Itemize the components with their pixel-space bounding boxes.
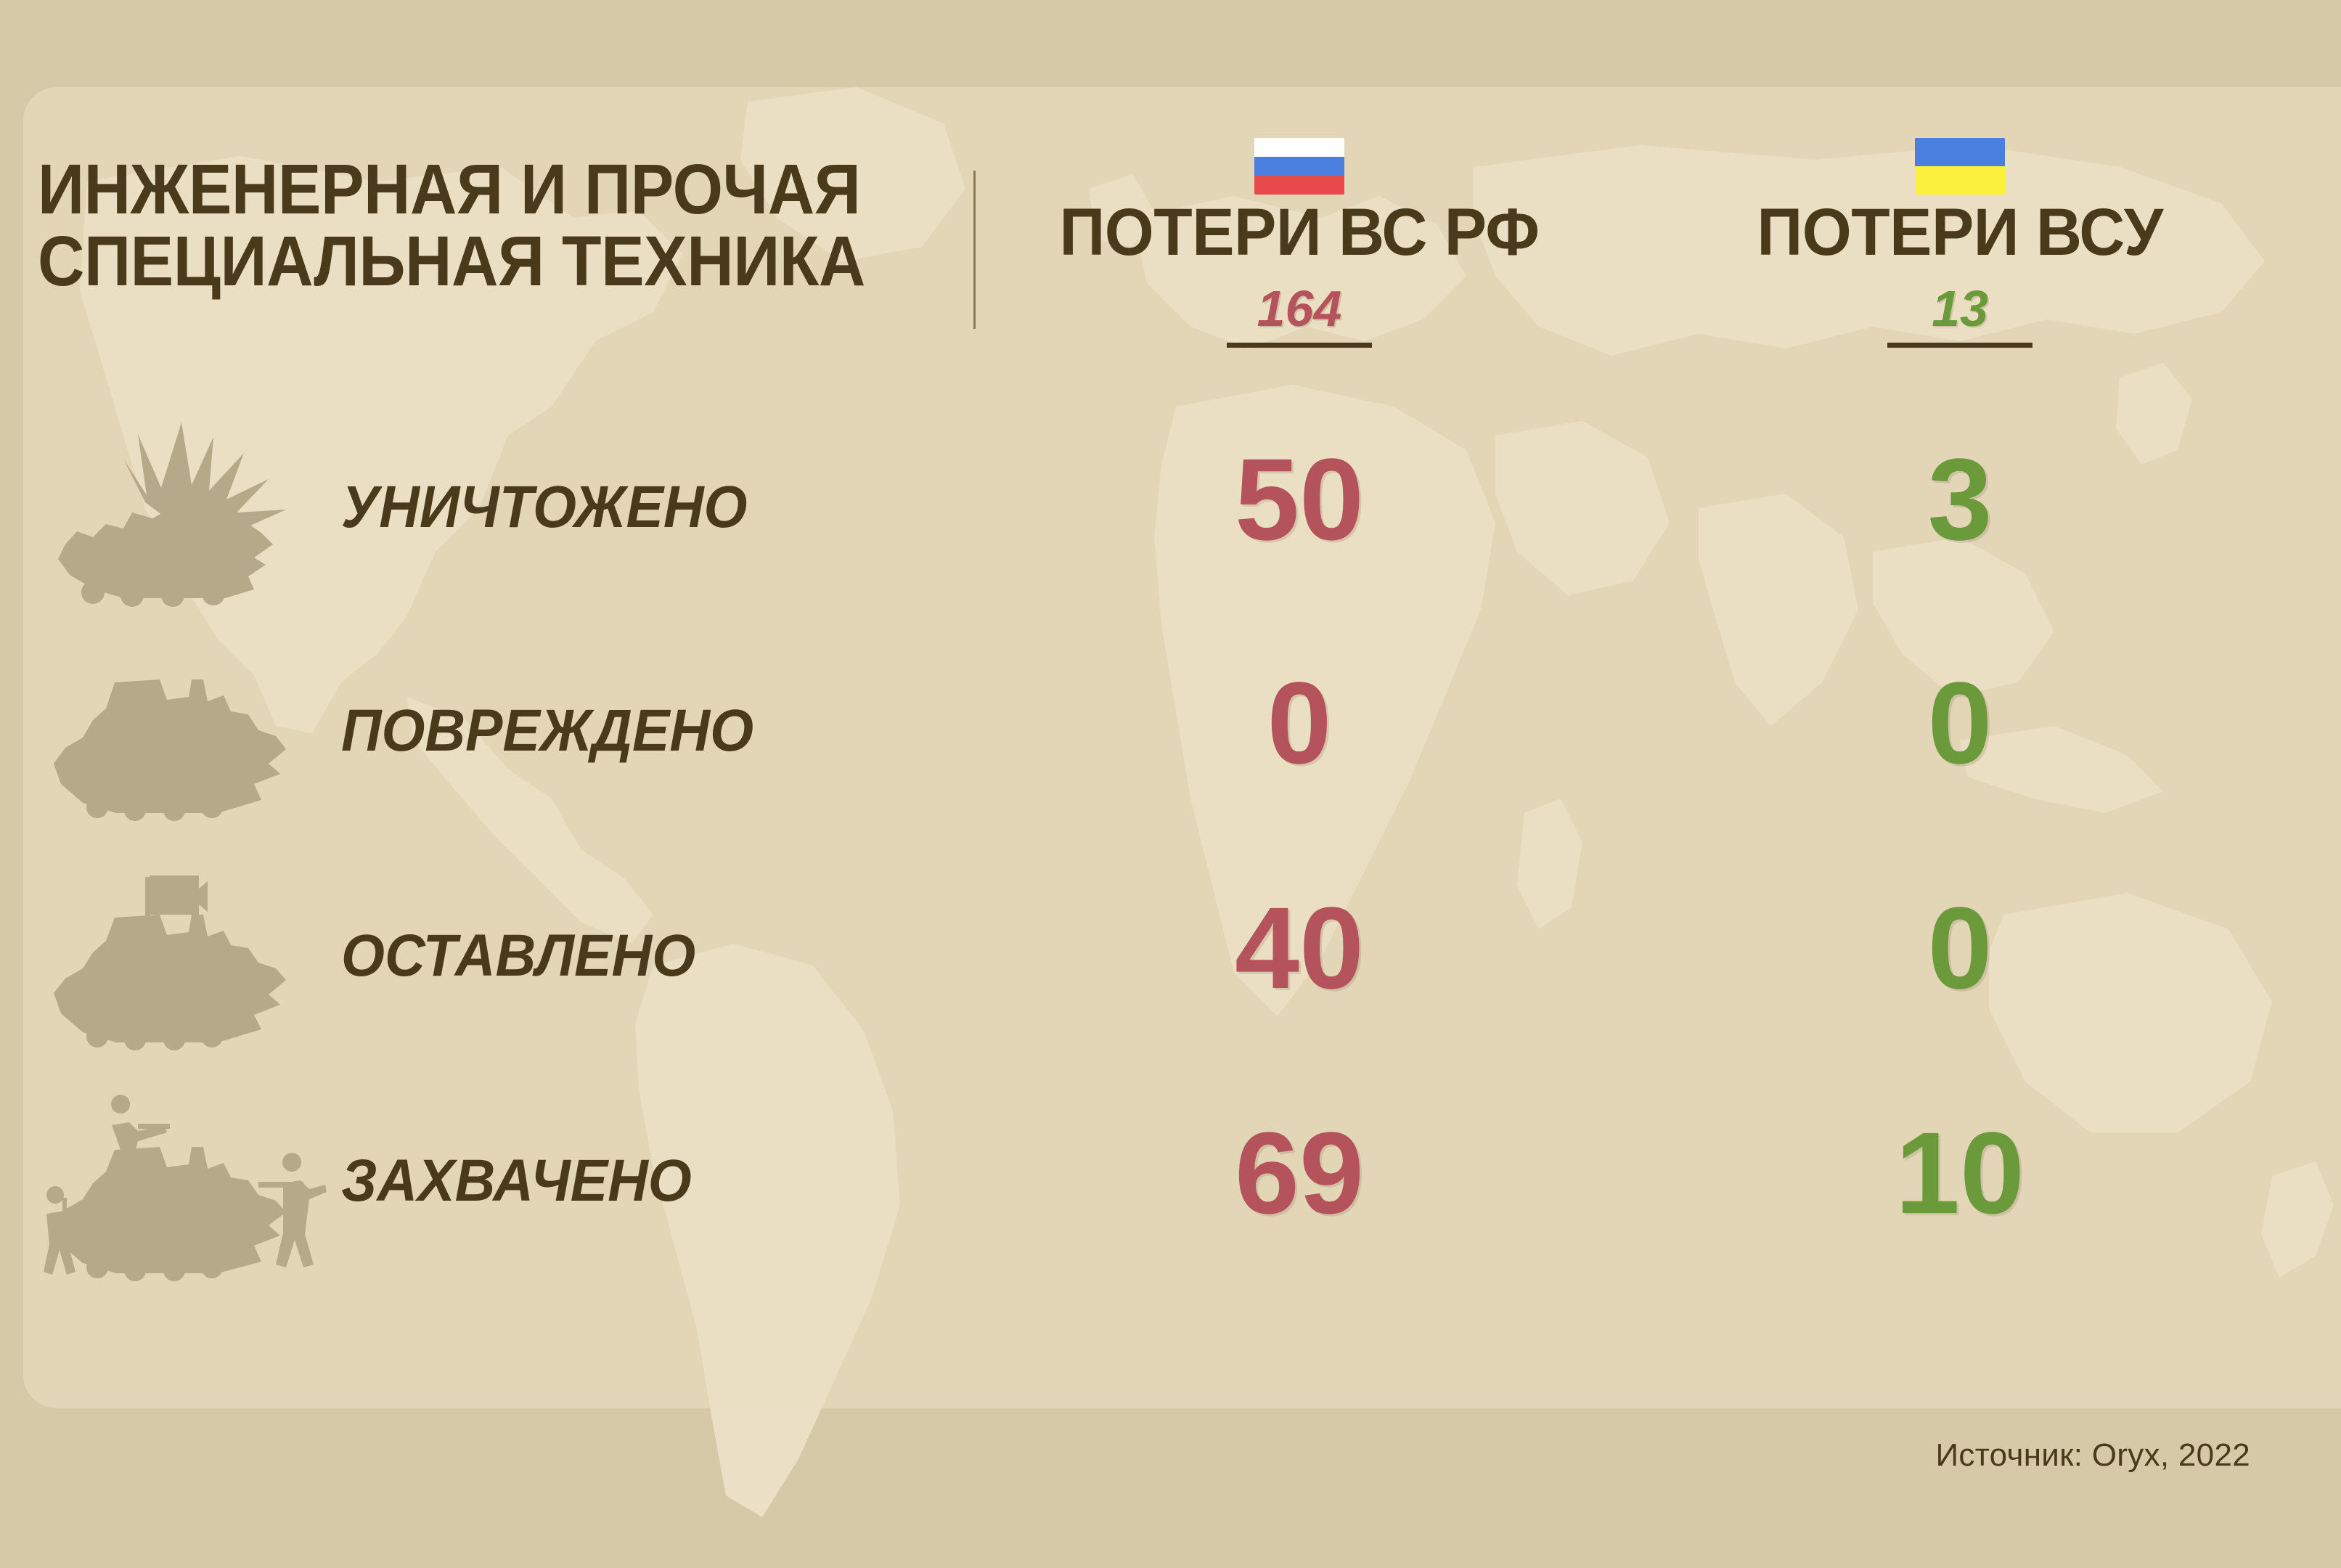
table-row: ЗАХВАЧЕНО 69 10: [0, 1089, 2341, 1307]
table-row: ПОВРЕЖДЕНО 0 0: [0, 639, 2341, 857]
column-total-rule-russia: [1227, 343, 1372, 348]
abandoned-vehicle-flag-icon: [36, 864, 327, 1082]
page-title-line-1: ИНЖЕНЕРНАЯ И ПРОЧАЯ: [38, 154, 886, 226]
column-total-russia: 164: [1002, 283, 1597, 334]
infographic-root: ИНЖЕНЕРНАЯ И ПРОЧАЯ СПЕЦИАЛЬНАЯ ТЕХНИКА …: [0, 0, 2341, 1568]
table-row: УНИЧТОЖЕНО 50 3: [0, 415, 2341, 633]
row-value-russia: 50: [1002, 441, 1597, 558]
ukraine-flag-icon: [1915, 138, 2005, 195]
row-value-russia: 0: [1002, 665, 1597, 781]
column-header-russia: ПОТЕРИ ВС РФ 164: [1002, 138, 1597, 348]
destroyed-vehicle-explosion-icon: [36, 415, 327, 633]
russia-flag-icon: [1254, 138, 1344, 195]
table-row: ОСТАВЛЕНО 40 0: [0, 864, 2341, 1082]
row-label: ПОВРЕЖДЕНО: [341, 701, 753, 761]
row-value-ukraine: 3: [1633, 441, 2287, 558]
column-title-ukraine: ПОТЕРИ ВСУ: [1650, 199, 2271, 267]
row-value-ukraine: 0: [1633, 665, 2287, 781]
damaged-vehicle-icon: [36, 639, 327, 857]
row-value-russia: 69: [1002, 1115, 1597, 1231]
page-title-line-2: СПЕЦИАЛЬНАЯ ТЕХНИКА: [38, 226, 886, 298]
column-title-russia: ПОТЕРИ ВС РФ: [1017, 199, 1582, 267]
source-attribution: Источник: Oryx, 2022: [1936, 1437, 2251, 1474]
row-value-ukraine: 10: [1633, 1115, 2287, 1231]
title-divider: [973, 171, 976, 329]
row-value-russia: 40: [1002, 890, 1597, 1006]
row-label: ЗАХВАЧЕНО: [341, 1151, 692, 1211]
column-total-rule-ukraine: [1887, 343, 2032, 348]
column-total-ukraine: 13: [1633, 283, 2287, 334]
row-label: УНИЧТОЖЕНО: [341, 478, 747, 537]
row-value-ukraine: 0: [1633, 890, 2287, 1006]
page-title: ИНЖЕНЕРНАЯ И ПРОЧАЯ СПЕЦИАЛЬНАЯ ТЕХНИКА: [38, 154, 960, 298]
row-label: ОСТАВЛЕНО: [341, 926, 695, 986]
captured-vehicle-soldiers-icon: [36, 1089, 327, 1307]
column-header-ukraine: ПОТЕРИ ВСУ 13: [1633, 138, 2287, 348]
